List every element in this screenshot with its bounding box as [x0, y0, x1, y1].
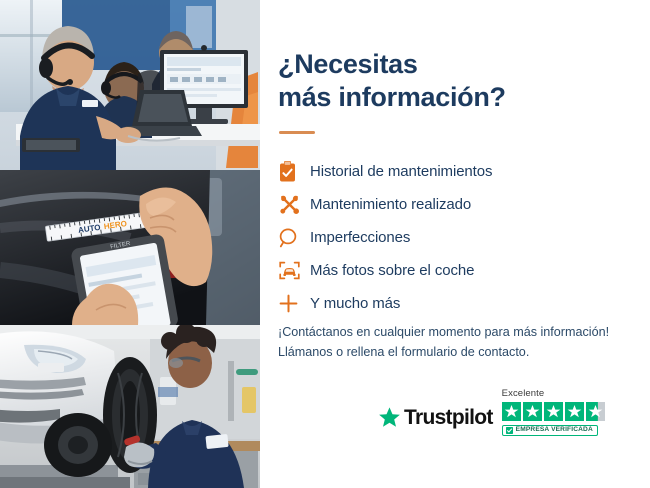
mechanic-wheel-inspection-photo — [0, 325, 260, 488]
trustpilot-rating-label: Excelente — [502, 388, 545, 399]
status-badge: EMPRESA VERIFICADA — [502, 425, 598, 436]
star-rating — [502, 402, 605, 421]
content-panel: ¿Necesitas más información? Historial de… — [260, 0, 650, 488]
check-square-icon — [506, 427, 513, 434]
list-item-label: Más fotos sobre el coche — [310, 263, 474, 278]
list-item: Más fotos sobre el coche — [276, 254, 626, 287]
title-divider — [279, 131, 315, 134]
list-item-label: Y mucho más — [310, 296, 400, 311]
promo-banner: AUTO HERO FILTER — [0, 0, 650, 488]
star-filled-icon — [565, 402, 584, 421]
contact-copy: ¡Contáctanos en cualquier momento para m… — [278, 322, 638, 363]
star-filled-icon — [523, 402, 542, 421]
trustpilot-brand-label: Trustpilot — [404, 407, 493, 428]
clipboard-check-icon — [276, 159, 310, 185]
star-filled-icon — [502, 402, 521, 421]
list-item-label: Mantenimiento realizado — [310, 197, 471, 212]
trustpilot-logo: Trustpilot — [378, 406, 493, 429]
trustpilot-rating[interactable]: Trustpilot Excelente — [378, 388, 605, 436]
trustpilot-star-icon — [378, 406, 401, 429]
headline-line-2: más información? — [278, 81, 506, 114]
star-filled-icon — [544, 402, 563, 421]
page-title: ¿Necesitas más información? — [278, 48, 506, 114]
plus-icon — [276, 291, 310, 317]
star-partial-icon — [586, 402, 605, 421]
verified-label: EMPRESA VERIFICADA — [516, 427, 593, 434]
contact-line-2: Llámanos o rellena el formulario de cont… — [278, 342, 638, 362]
car-photo-frame-icon — [276, 258, 310, 284]
call-center-agents-photo — [0, 0, 260, 170]
list-item-label: Imperfecciones — [310, 230, 410, 245]
magnifier-icon — [276, 225, 310, 251]
photo-collage: AUTO HERO FILTER — [0, 0, 260, 488]
list-item: Y mucho más — [276, 287, 626, 320]
contact-line-1: ¡Contáctanos en cualquier momento para m… — [278, 322, 638, 342]
feature-list: Historial de mantenimientos M — [276, 155, 626, 320]
car-inspection-ruler-photo: AUTO HERO FILTER — [0, 170, 260, 325]
list-item: Imperfecciones — [276, 221, 626, 254]
list-item-label: Historial de mantenimientos — [310, 164, 492, 179]
wrench-screwdriver-icon — [276, 192, 310, 218]
list-item: Historial de mantenimientos — [276, 155, 626, 188]
list-item: Mantenimiento realizado — [276, 188, 626, 221]
trustpilot-stars-block: Excelente — [502, 388, 605, 436]
headline-line-1: ¿Necesitas — [278, 48, 506, 81]
